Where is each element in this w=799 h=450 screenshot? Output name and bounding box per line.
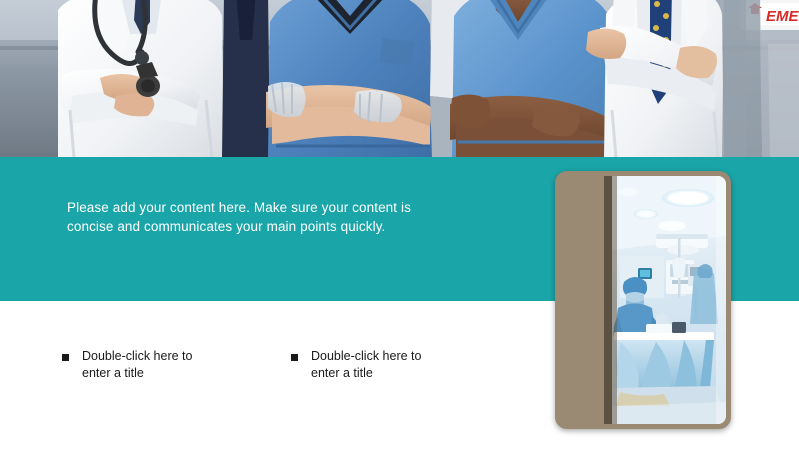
band-body-text[interactable]: Please add your content here. Make sure … bbox=[67, 198, 427, 236]
square-bullet-icon bbox=[62, 354, 69, 361]
bullet-line-1: Double-click here to bbox=[311, 348, 439, 365]
operating-room-illustration bbox=[560, 176, 726, 424]
emergency-sign-text: EMERGE bbox=[766, 8, 799, 25]
medical-team-photo-illustration: EMERGE bbox=[0, 0, 799, 158]
list-item[interactable]: Double-click here to enter a title bbox=[62, 348, 210, 382]
operating-room-photo-frame bbox=[555, 171, 731, 429]
medical-team-photo: EMERGE bbox=[0, 0, 799, 158]
bullet-columns: Double-click here to enter a title Doubl… bbox=[0, 348, 560, 408]
bullet-line-2: enter a title bbox=[311, 365, 439, 382]
bullet-title-placeholder-2[interactable]: Double-click here to enter a title bbox=[311, 348, 439, 382]
presentation-slide: EMERGE bbox=[0, 0, 799, 450]
bullet-line-1: Double-click here to bbox=[82, 348, 210, 365]
bullet-column-2[interactable]: Double-click here to enter a title bbox=[291, 348, 439, 382]
bullet-line-2: enter a title bbox=[82, 365, 210, 382]
square-bullet-icon bbox=[291, 354, 298, 361]
operating-room-photo bbox=[560, 176, 726, 424]
bullet-title-placeholder-1[interactable]: Double-click here to enter a title bbox=[82, 348, 210, 382]
list-item[interactable]: Double-click here to enter a title bbox=[291, 348, 439, 382]
bullet-column-1[interactable]: Double-click here to enter a title bbox=[62, 348, 210, 382]
